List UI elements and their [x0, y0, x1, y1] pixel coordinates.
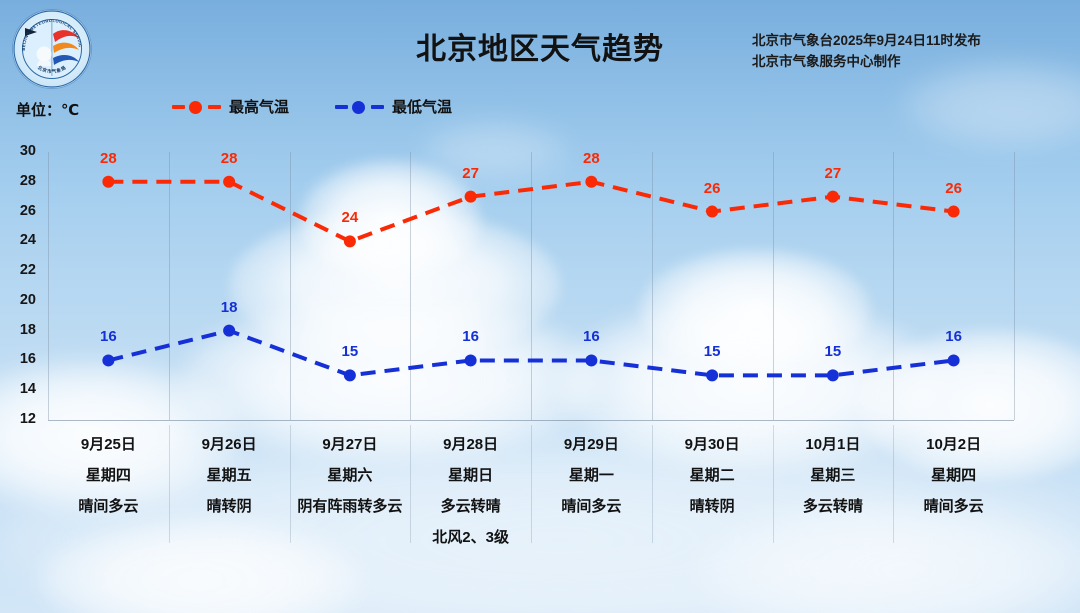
- day-weekday-7: 星期四: [890, 460, 1018, 491]
- high-temp-value-1: 28: [209, 150, 249, 167]
- weather-trend-chart: BEIJING METEOROLOGICAL SERVICE 北京市气象局 北京…: [0, 0, 1080, 613]
- day-column-6: 10月1日星期三多云转晴: [769, 430, 897, 522]
- day-weekday-3: 星期日: [407, 460, 535, 491]
- low-temp-value-4: 16: [571, 328, 611, 345]
- day-date-4: 9月29日: [527, 430, 655, 460]
- low-temp-marker-6: [827, 369, 839, 381]
- day-weekday-5: 星期二: [648, 460, 776, 491]
- day-column-0: 9月25日星期四晴间多云: [44, 430, 172, 522]
- day-separator-5: [652, 425, 653, 543]
- high-temp-marker-0: [102, 176, 114, 188]
- high-temp-value-5: 26: [692, 180, 732, 197]
- day-condition-7: 晴间多云: [890, 491, 1018, 522]
- high-temp-value-2: 24: [330, 209, 370, 226]
- day-date-6: 10月1日: [769, 430, 897, 460]
- day-weekday-6: 星期三: [769, 460, 897, 491]
- day-weekday-1: 星期五: [165, 460, 293, 491]
- day-weekday-2: 星期六: [286, 460, 414, 491]
- high-temp-value-7: 26: [934, 180, 974, 197]
- day-column-1: 9月26日星期五晴转阴: [165, 430, 293, 522]
- low-temp-marker-1: [223, 325, 235, 337]
- day-condition-6: 多云转晴: [769, 491, 897, 522]
- high-temp-marker-1: [223, 176, 235, 188]
- day-date-3: 9月28日: [407, 430, 535, 460]
- high-temp-value-4: 28: [571, 150, 611, 167]
- low-temp-marker-2: [344, 369, 356, 381]
- high-temp-marker-6: [827, 191, 839, 203]
- day-wind-3: 北风2、3级: [407, 522, 535, 553]
- day-separator-7: [893, 425, 894, 543]
- day-weekday-0: 星期四: [44, 460, 172, 491]
- day-condition-3: 多云转晴: [407, 491, 535, 522]
- high-temp-marker-2: [344, 235, 356, 247]
- day-date-5: 9月30日: [648, 430, 776, 460]
- low-temp-marker-3: [465, 354, 477, 366]
- day-separator-3: [410, 425, 411, 543]
- low-temp-value-1: 18: [209, 299, 249, 316]
- day-condition-4: 晴间多云: [527, 491, 655, 522]
- day-column-5: 9月30日星期二晴转阴: [648, 430, 776, 522]
- day-column-4: 9月29日星期一晴间多云: [527, 430, 655, 522]
- day-column-7: 10月2日星期四晴间多云: [890, 430, 1018, 522]
- low-temp-value-0: 16: [88, 328, 128, 345]
- high-temp-markers: [102, 176, 959, 248]
- day-column-3: 9月28日星期日多云转晴北风2、3级: [407, 430, 535, 553]
- low-temp-value-5: 15: [692, 343, 732, 360]
- low-temp-value-7: 16: [934, 328, 974, 345]
- day-separator-4: [531, 425, 532, 543]
- low-temp-marker-4: [585, 354, 597, 366]
- day-date-2: 9月27日: [286, 430, 414, 460]
- high-temp-line: [108, 182, 953, 242]
- low-temp-value-3: 16: [451, 328, 491, 345]
- day-separator-6: [773, 425, 774, 543]
- high-temp-value-3: 27: [451, 165, 491, 182]
- low-temp-marker-0: [102, 354, 114, 366]
- day-condition-2: 阴有阵雨转多云: [286, 491, 414, 522]
- high-temp-value-0: 28: [88, 150, 128, 167]
- day-separator-1: [169, 425, 170, 543]
- high-temp-marker-7: [948, 206, 960, 218]
- day-date-7: 10月2日: [890, 430, 1018, 460]
- high-temp-marker-5: [706, 206, 718, 218]
- day-date-1: 9月26日: [165, 430, 293, 460]
- day-column-2: 9月27日星期六阴有阵雨转多云: [286, 430, 414, 522]
- low-temp-value-6: 15: [813, 343, 853, 360]
- low-temp-marker-5: [706, 369, 718, 381]
- day-weekday-4: 星期一: [527, 460, 655, 491]
- day-condition-5: 晴转阴: [648, 491, 776, 522]
- day-date-0: 9月25日: [44, 430, 172, 460]
- day-condition-0: 晴间多云: [44, 491, 172, 522]
- low-temp-marker-7: [948, 354, 960, 366]
- high-temp-value-6: 27: [813, 165, 853, 182]
- low-temp-value-2: 15: [330, 343, 370, 360]
- day-condition-1: 晴转阴: [165, 491, 293, 522]
- high-temp-marker-3: [465, 191, 477, 203]
- day-separator-2: [290, 425, 291, 543]
- high-temp-marker-4: [585, 176, 597, 188]
